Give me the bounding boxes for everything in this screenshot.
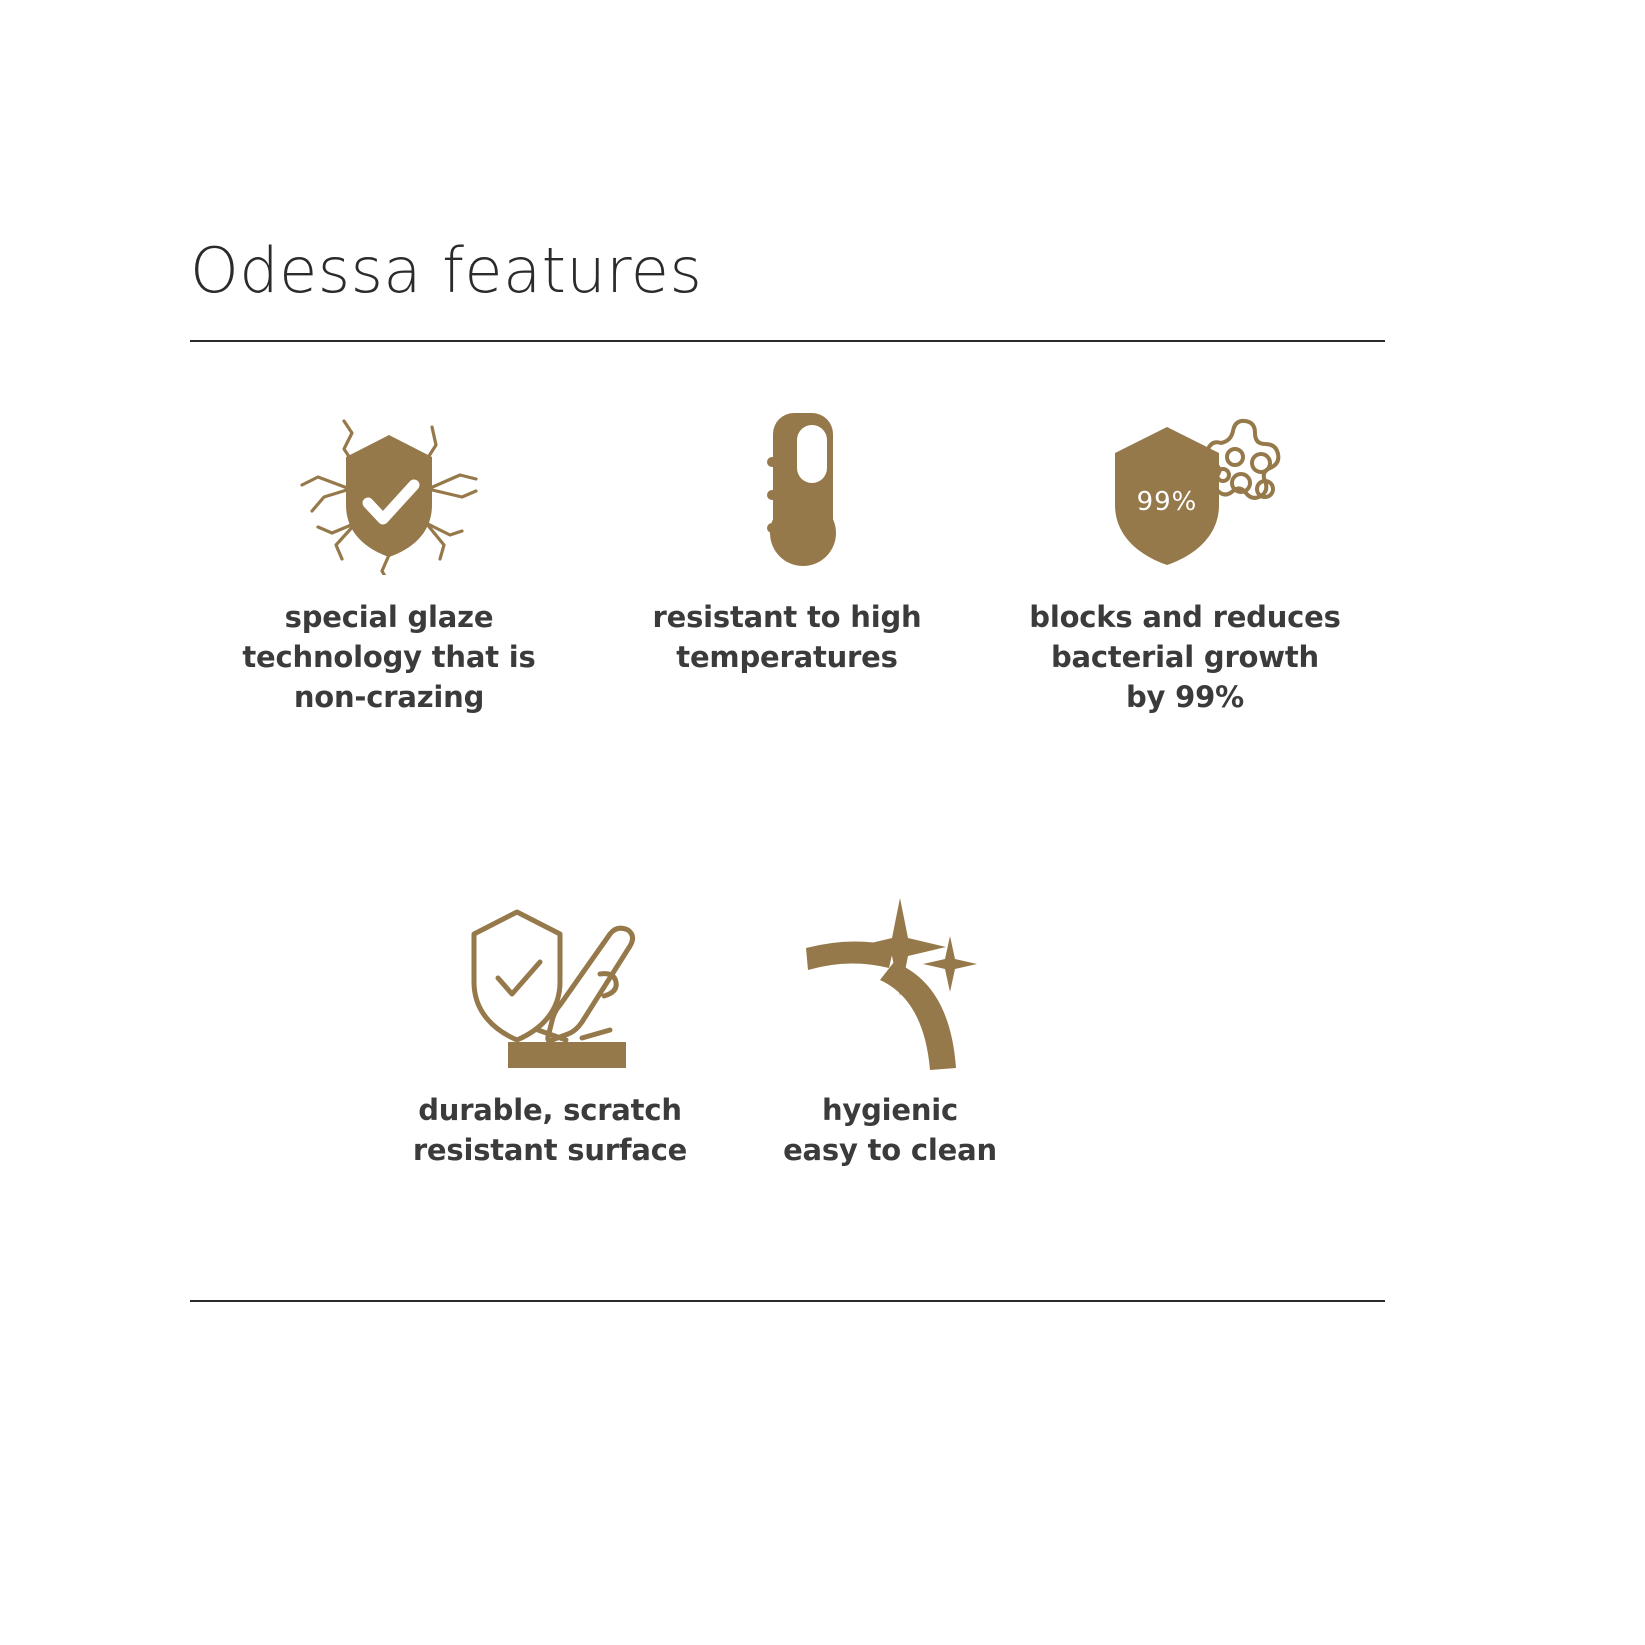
feature-heat-resistant: resistant to high temperatures (588, 405, 986, 677)
feature-sheet: Odessa features (0, 0, 1645, 1645)
page-title: Odessa features (190, 238, 702, 303)
feature-special-glaze: special glaze technology that is non-cra… (190, 405, 588, 717)
feature-hygienic: hygienic easy to clean (720, 890, 1060, 1170)
shield-virus-icon: 99% (1075, 405, 1295, 575)
sparkle-shine-icon (790, 890, 990, 1070)
feature-label: special glaze technology that is non-cra… (242, 597, 535, 717)
feature-antibacterial: 99% blocks and reduces bacterial growth … (986, 405, 1384, 717)
feature-label: blocks and reduces bacterial growth by 9… (1029, 597, 1340, 717)
shield-knife-scratch-icon (450, 890, 650, 1070)
feature-label: durable, scratch resistant surface (413, 1090, 687, 1170)
feature-scratch-resistant: durable, scratch resistant surface (380, 890, 720, 1170)
shield-badge-text: 99% (1137, 487, 1198, 517)
divider-top (190, 340, 1385, 342)
thermometer-icon (712, 405, 862, 575)
features-row-1: special glaze technology that is non-cra… (190, 405, 1385, 717)
features-row-2: durable, scratch resistant surface hygie… (380, 890, 1200, 1170)
feature-label: hygienic easy to clean (783, 1090, 997, 1170)
feature-label: resistant to high temperatures (653, 597, 922, 677)
divider-bottom (190, 1300, 1385, 1302)
shield-check-crazing-icon (294, 405, 484, 575)
